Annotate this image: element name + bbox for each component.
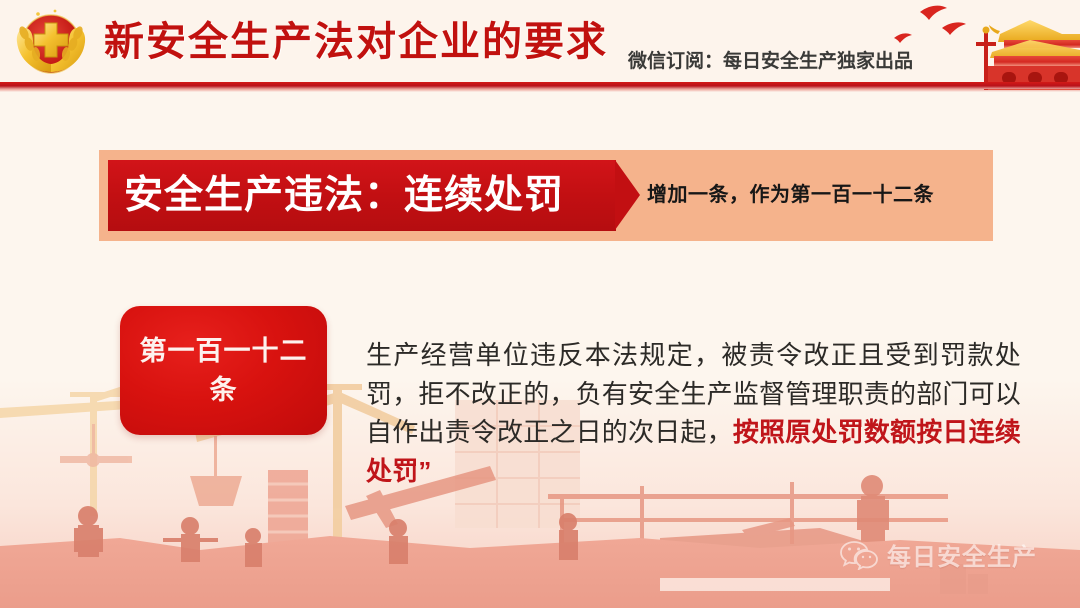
article-body-text: 生产经营单位违反本法规定，被责令改正且受到罚款处罚，拒不改正的，负有安全生产监督… <box>366 336 1021 490</box>
slide-canvas: 新安全生产法对企业的要求 微信订阅：每日安全生产独家出品 <box>0 0 1080 608</box>
section-banner-note: 增加一条，作为第一百一十二条 <box>647 173 934 217</box>
page-header: 新安全生产法对企业的要求 微信订阅：每日安全生产独家出品 <box>0 0 1080 92</box>
article-number-label: 第一百一十二条 <box>134 332 314 410</box>
tiananmen-gate-icon <box>880 0 1080 90</box>
section-banner-title: 安全生产违法：连续处罚 <box>124 164 564 227</box>
page-title: 新安全生产法对企业的要求 <box>104 12 608 72</box>
header-divider-rule <box>0 82 1080 89</box>
arrow-tip <box>615 160 640 230</box>
safety-production-emblem-icon <box>8 6 94 82</box>
article-number-chip: 第一百一十二条 <box>120 306 327 435</box>
wechat-label: 每日安全生产 <box>887 543 1037 573</box>
wechat-watermark: 每日安全生产 <box>840 540 1037 575</box>
section-banner-arrow: 安全生产违法：连续处罚 <box>108 160 631 231</box>
subscribe-note: 微信订阅：每日安全生产独家出品 <box>628 49 913 75</box>
wechat-icon <box>840 540 878 575</box>
